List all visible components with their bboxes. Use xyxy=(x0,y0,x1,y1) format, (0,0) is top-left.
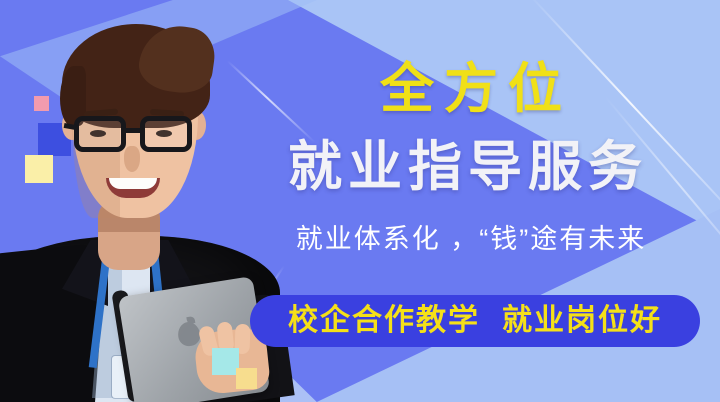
eyeglass-lens-right xyxy=(140,116,192,152)
presenter-photo xyxy=(0,0,300,402)
cta-pill[interactable]: 校企合作教学就业岗位好 xyxy=(250,295,700,347)
teeth xyxy=(109,178,157,189)
eyeglass-bridge xyxy=(125,128,142,133)
cta-text-part-2: 就业岗位好 xyxy=(502,304,662,337)
decor-square-cyan xyxy=(212,348,239,375)
decor-square-gold xyxy=(236,368,257,389)
eyeglass-lens-left xyxy=(74,116,126,152)
headline-line-1: 全方位 xyxy=(250,62,702,116)
cta-text: 校企合作教学就业岗位好 xyxy=(288,306,662,336)
promo-banner: 全方位 就业指导服务 就业体系化 ，“钱”途有未来 校企合作教学就业岗位好 xyxy=(0,0,720,402)
nose xyxy=(124,146,140,172)
headline-line-2: 就业指导服务 xyxy=(222,140,714,194)
cta-text-part-1: 校企合作教学 xyxy=(288,304,480,337)
banner-subtitle: 就业体系化 ，“钱”途有未来 xyxy=(232,226,710,253)
